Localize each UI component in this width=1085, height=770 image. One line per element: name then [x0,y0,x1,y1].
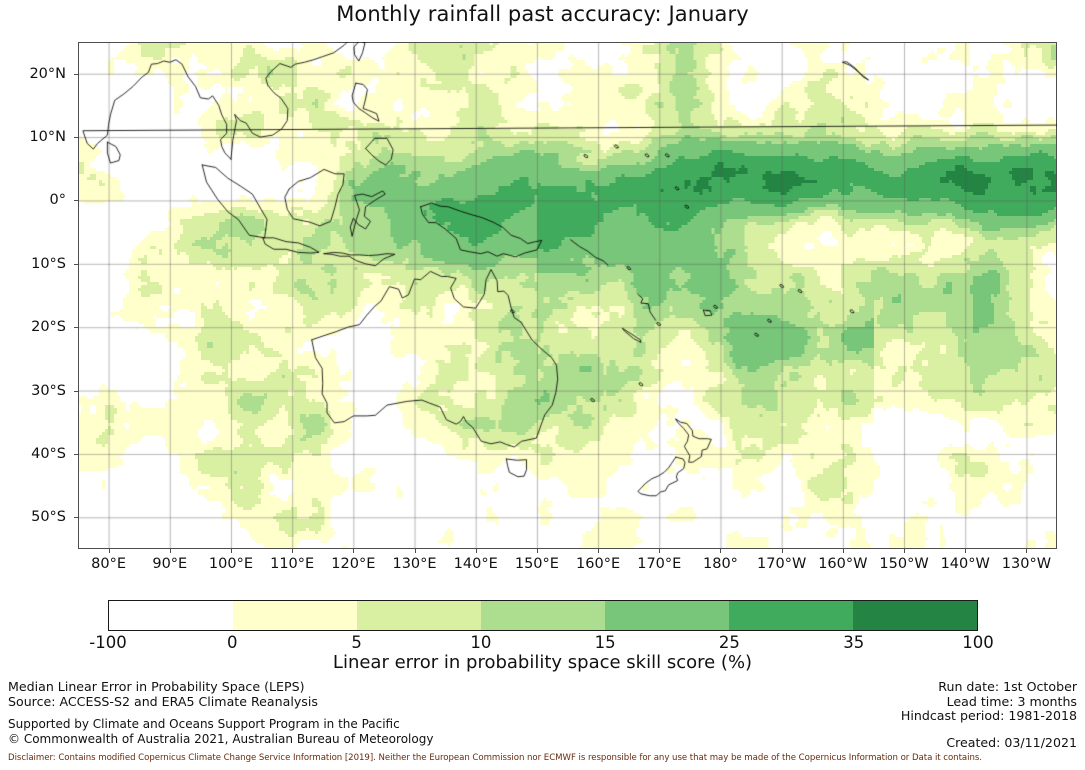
y-axis-tick-label: 50°S [0,509,66,525]
footer-support: Supported by Climate and Oceans Support … [8,717,433,732]
colorbar-segment-5 [729,601,853,630]
footer-lead-time: Lead time: 3 months [901,695,1077,710]
y-axis-tick-mark [74,264,78,265]
y-axis-tick-label: 30°S [0,383,66,399]
x-axis-tick-mark [598,549,599,553]
footer-left: Median Linear Error in Probability Space… [8,680,433,746]
x-axis-tick-mark [904,549,905,553]
map-coastline-overlay [78,42,1057,549]
y-axis-tick-label: 20°N [0,66,66,82]
colorbar-segments [108,600,978,631]
x-axis-tick-label: 130°W [1002,556,1051,572]
colorbar-tick-5: 25 [719,633,740,652]
x-axis-tick-mark [843,549,844,553]
colorbar-tick-4: 15 [595,633,616,652]
x-axis-tick-mark [659,549,660,553]
x-axis-tick-label: 180° [703,556,738,572]
footer-run-date: Run date: 1st October [901,680,1077,695]
x-axis-tick-mark [720,549,721,553]
colorbar-tick-7: 100 [962,633,994,652]
x-axis-tick-label: 90°E [152,556,187,572]
x-axis-tick-label: 120°E [331,556,375,572]
x-axis-tick-mark [292,549,293,553]
colorbar-segment-6 [853,601,977,630]
x-axis-tick-label: 170°W [757,556,806,572]
y-axis-tick-label: 0° [0,192,66,208]
page-title: Monthly rainfall past accuracy: January [0,2,1085,26]
x-axis-tick-label: 110°E [270,556,314,572]
x-axis-tick-label: 150°W [879,556,928,572]
x-axis-tick-label: 80°E [91,556,126,572]
colorbar-segment-4 [605,601,729,630]
x-axis-tick-label: 140°E [454,556,498,572]
x-axis-tick-label: 160°E [576,556,620,572]
y-axis-tick-mark [74,137,78,138]
x-axis-tick-mark [415,549,416,553]
y-axis-tick-mark [74,391,78,392]
x-axis-tick-label: 160°W [818,556,867,572]
colorbar-tick-0: -100 [89,633,126,652]
x-axis-tick-label: 100°E [209,556,253,572]
footer-right: Run date: 1st October Lead time: 3 month… [901,680,1077,750]
x-axis-tick-mark [170,549,171,553]
x-axis-tick-label: 150°E [515,556,559,572]
y-axis-tick-mark [74,74,78,75]
colorbar-tick-3: 10 [470,633,491,652]
footer-metric-name: Median Linear Error in Probability Space… [8,680,433,695]
colorbar-segment-2 [357,601,481,630]
footer-source: Source: ACCESS-S2 and ERA5 Climate Reana… [8,695,433,710]
colorbar-tick-1: 0 [227,633,238,652]
x-axis-tick-label: 140°W [941,556,990,572]
x-axis-tick-mark [109,549,110,553]
y-axis-tick-label: 10°S [0,256,66,272]
x-axis-tick-label: 170°E [637,556,681,572]
colorbar [108,600,978,631]
footer-created-date: Created: 03/11/2021 [901,736,1077,751]
y-axis-tick-label: 40°S [0,446,66,462]
x-axis-tick-mark [782,549,783,553]
footer-disclaimer: Disclaimer: Contains modified Copernicus… [8,753,1077,763]
x-axis-tick-mark [1026,549,1027,553]
y-axis-tick-mark [74,517,78,518]
x-axis-tick-mark [353,549,354,553]
x-axis-tick-label: 130°E [392,556,436,572]
y-axis-tick-mark [74,327,78,328]
colorbar-tick-6: 35 [843,633,864,652]
x-axis-tick-mark [476,549,477,553]
x-axis-tick-mark [537,549,538,553]
colorbar-segment-3 [481,601,605,630]
y-axis-tick-label: 10°N [0,129,66,145]
y-axis-tick-mark [74,454,78,455]
y-axis-tick-mark [74,200,78,201]
x-axis-tick-mark [231,549,232,553]
footer-copyright: © Commonwealth of Australia 2021, Austra… [8,732,433,747]
colorbar-segment-1 [233,601,357,630]
y-axis-tick-label: 20°S [0,319,66,335]
colorbar-axis-label: Linear error in probability space skill … [0,652,1085,673]
map-plot-area [78,42,1057,549]
footer-hindcast-period: Hindcast period: 1981-2018 [901,709,1077,724]
colorbar-tick-2: 5 [351,633,362,652]
x-axis-tick-mark [965,549,966,553]
colorbar-segment-0 [109,601,233,630]
